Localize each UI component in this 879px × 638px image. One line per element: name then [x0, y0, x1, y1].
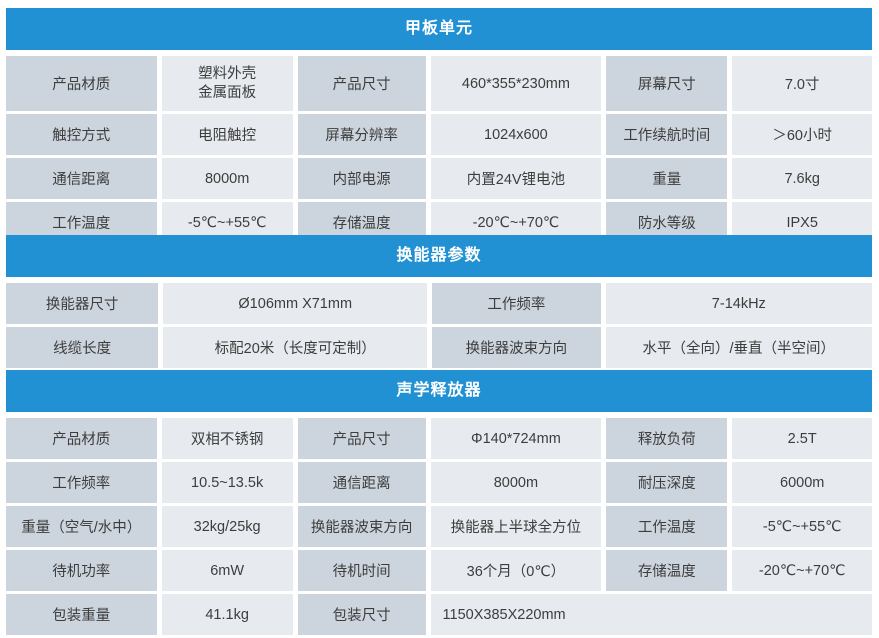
spec-value-cell: 36个月（0℃） [431, 550, 602, 591]
spec-value-cell: 内置24V锂电池 [431, 158, 602, 199]
spec-value-cell: 8000m [162, 158, 293, 199]
spec-sheet-page: 甲板单元 产品材质塑料外壳金属面板产品尺寸460*355*230mm屏幕尺寸7.… [0, 0, 879, 634]
spec-label-cell: 换能器波束方向 [432, 327, 600, 368]
section-header-deck-unit: 甲板单元 [6, 8, 872, 50]
spec-value-cell: -20℃~+70℃ [732, 550, 872, 591]
spec-table: 产品材质双相不锈钢产品尺寸Φ140*724mm释放负荷2.5T工作频率10.5~… [1, 415, 877, 638]
spec-label-cell: 通信距离 [298, 462, 426, 503]
spec-label-cell: 通信距离 [6, 158, 157, 199]
table-row: 工作频率10.5~13.5k通信距离8000m耐压深度6000m [6, 462, 872, 503]
spec-value-cell: 水平（全向）/垂直（半空间） [606, 327, 872, 368]
spec-label-cell: 屏幕分辨率 [298, 114, 426, 155]
spec-value-cell: 2.5T [732, 418, 872, 459]
spec-label-cell: 工作频率 [432, 283, 600, 324]
table-row: 产品材质双相不锈钢产品尺寸Φ140*724mm释放负荷2.5T [6, 418, 872, 459]
spec-label-cell: 线缆长度 [6, 327, 158, 368]
spec-value-cell: Ø106mm X71mm [163, 283, 427, 324]
spec-value-cell: 8000m [431, 462, 602, 503]
spec-label-cell: 重量 [606, 158, 727, 199]
spec-label-cell: 触控方式 [6, 114, 157, 155]
spec-value-cell: 塑料外壳金属面板 [162, 56, 293, 111]
table-row: 待机功率6mW待机时间36个月（0℃）存储温度-20℃~+70℃ [6, 550, 872, 591]
spec-value-cell: 32kg/25kg [162, 506, 293, 547]
spec-value-cell: 460*355*230mm [431, 56, 602, 111]
spec-label-cell: 产品尺寸 [298, 418, 426, 459]
spec-label-cell: 包装重量 [6, 594, 157, 635]
spec-value-cell: 双相不锈钢 [162, 418, 293, 459]
spec-value-cell: 换能器上半球全方位 [431, 506, 602, 547]
spec-label-cell: 产品材质 [6, 418, 157, 459]
spec-label-cell: 释放负荷 [606, 418, 727, 459]
spec-label-cell: 内部电源 [298, 158, 426, 199]
spec-value-cell: 6000m [732, 462, 872, 503]
section-header-transducer-params: 换能器参数 [6, 235, 872, 277]
spec-label-cell: 工作温度 [606, 506, 727, 547]
table-row: 通信距离8000m内部电源内置24V锂电池重量7.6kg [6, 158, 872, 199]
spec-label-cell: 待机时间 [298, 550, 426, 591]
spec-label-cell: 包装尺寸 [298, 594, 426, 635]
table-row: 线缆长度标配20米（长度可定制）换能器波束方向水平（全向）/垂直（半空间） [6, 327, 872, 368]
table-row: 换能器尺寸Ø106mm X71mm工作频率7-14kHz [6, 283, 872, 324]
spec-label-cell: 产品材质 [6, 56, 157, 111]
spec-label-cell: 工作续航时间 [606, 114, 727, 155]
section-header-acoustic-releaser: 声学释放器 [6, 370, 872, 412]
spec-value-cell: 7.6kg [732, 158, 872, 199]
spec-value-cell: ＞60小时 [732, 114, 872, 155]
spec-value-cell: 1024x600 [431, 114, 602, 155]
spec-value-cell: 1150X385X220mm [431, 594, 872, 635]
spec-label-cell: 待机功率 [6, 550, 157, 591]
spec-label-cell: 存储温度 [606, 550, 727, 591]
spec-value-cell: Φ140*724mm [431, 418, 602, 459]
spec-label-cell: 换能器波束方向 [298, 506, 426, 547]
spec-label-cell: 屏幕尺寸 [606, 56, 727, 111]
spec-value-cell: -5℃~+55℃ [732, 506, 872, 547]
spec-value-cell: 7-14kHz [606, 283, 872, 324]
spec-label-cell: 重量（空气/水中） [6, 506, 157, 547]
spec-value-cell: 10.5~13.5k [162, 462, 293, 503]
section-table-deck-unit: 产品材质塑料外壳金属面板产品尺寸460*355*230mm屏幕尺寸7.0寸触控方… [1, 53, 877, 246]
table-row: 触控方式电阻触控屏幕分辨率1024x600工作续航时间＞60小时 [6, 114, 872, 155]
spec-value-cell: 电阻触控 [162, 114, 293, 155]
spec-value-cell: 7.0寸 [732, 56, 872, 111]
spec-value-cell: 标配20米（长度可定制） [163, 327, 427, 368]
table-row: 产品材质塑料外壳金属面板产品尺寸460*355*230mm屏幕尺寸7.0寸 [6, 56, 872, 111]
spec-label-cell: 换能器尺寸 [6, 283, 158, 324]
spec-table: 产品材质塑料外壳金属面板产品尺寸460*355*230mm屏幕尺寸7.0寸触控方… [1, 53, 877, 246]
spec-table: 换能器尺寸Ø106mm X71mm工作频率7-14kHz线缆长度标配20米（长度… [1, 280, 877, 371]
spec-value-cell: 6mW [162, 550, 293, 591]
spec-label-cell: 产品尺寸 [298, 56, 426, 111]
spec-label-cell: 耐压深度 [606, 462, 727, 503]
spec-label-cell: 工作频率 [6, 462, 157, 503]
table-row: 重量（空气/水中）32kg/25kg换能器波束方向换能器上半球全方位工作温度-5… [6, 506, 872, 547]
table-row: 包装重量41.1kg包装尺寸1150X385X220mm [6, 594, 872, 635]
spec-value-cell: 41.1kg [162, 594, 293, 635]
section-table-transducer-params: 换能器尺寸Ø106mm X71mm工作频率7-14kHz线缆长度标配20米（长度… [1, 280, 877, 371]
section-table-acoustic-releaser: 产品材质双相不锈钢产品尺寸Φ140*724mm释放负荷2.5T工作频率10.5~… [1, 415, 877, 638]
